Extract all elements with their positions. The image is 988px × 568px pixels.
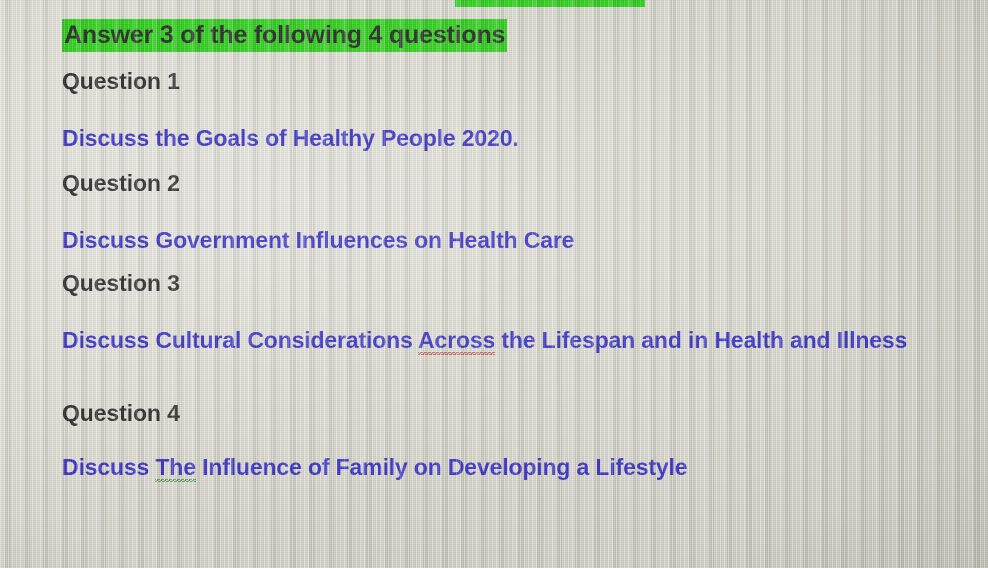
question-prompt-1: Discuss the Goals of Healthy People 2020… [62,124,519,152]
question-label-4: Question 4 [62,400,180,427]
exam-instruction-heading-text: Answer 3 of the following 4 questions [62,19,507,52]
question-label-2: Question 2 [62,170,180,197]
question-prompt-3-suffix: the Lifespan and in Health and Illness [495,327,907,353]
question-label-1: Question 1 [62,68,180,95]
question-label-3: Question 3 [62,270,180,297]
document-body: Answer 3 of the following 4 questions Qu… [0,0,988,568]
question-prompt-1-text: Discuss the Goals of Healthy People 2020… [62,125,519,151]
top-partial-highlight-strip [455,0,645,7]
question-prompt-4-suffix: Influence of Family on Developing a Life… [196,454,688,480]
question-prompt-4-prefix: Discuss [62,454,155,480]
question-prompt-2: Discuss Government Influences on Health … [62,226,574,254]
question-prompt-3-prefix: Discuss Cultural Considerations [62,327,418,353]
photographed-screen-canvas: Answer 3 of the following 4 questions Qu… [0,0,988,568]
misspelled-word-across: Across [418,327,495,356]
question-prompt-2-text: Discuss Government Influences on Health … [62,227,574,253]
exam-instruction-heading: Answer 3 of the following 4 questions [62,21,507,49]
question-prompt-3: Discuss Cultural Considerations Across t… [62,326,988,354]
question-prompt-4: Discuss The Influence of Family on Devel… [62,453,687,481]
grammar-flagged-word-the: The [155,454,195,483]
